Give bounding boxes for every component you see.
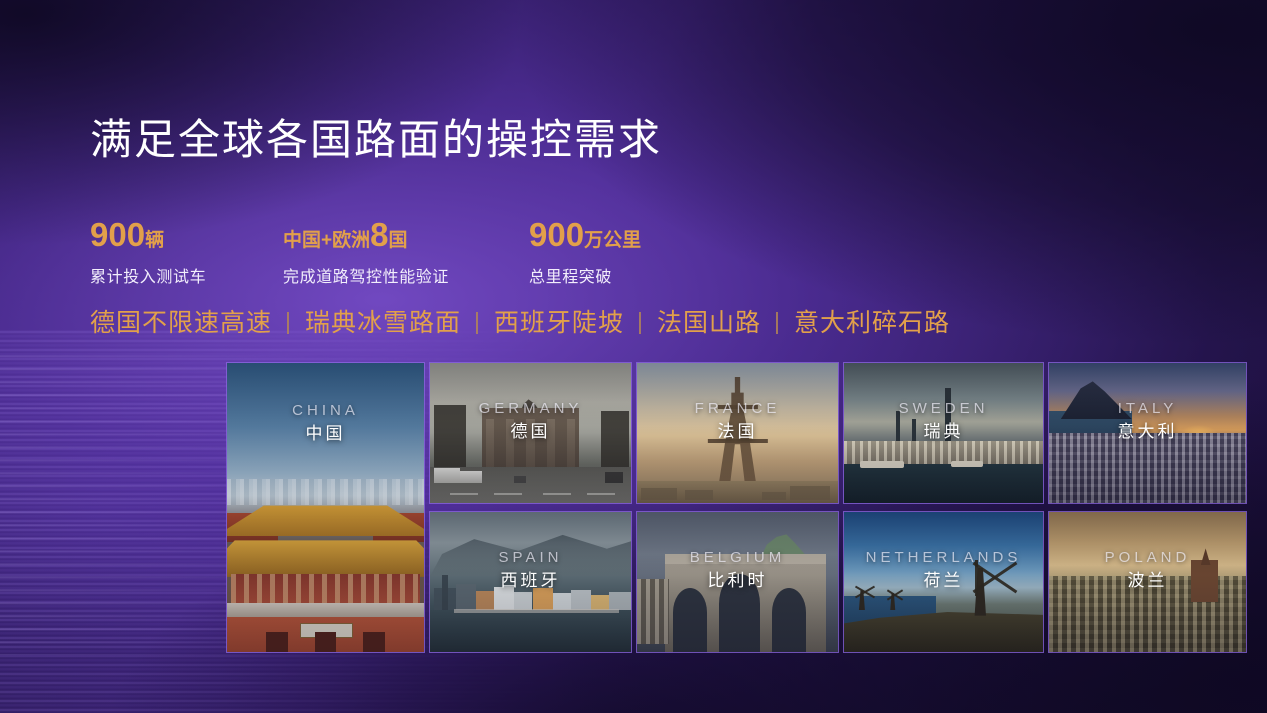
country-name-zh: 西班牙 — [430, 572, 631, 589]
country-name-en: FRANCE — [637, 401, 838, 416]
country-name-en: SPAIN — [430, 550, 631, 565]
country-name-zh: 意大利 — [1049, 423, 1246, 440]
stat-item-test-vehicles: 900辆 累计投入测试车 — [90, 218, 283, 287]
separator: | — [272, 308, 305, 335]
card-labels: GERMANY 德国 — [430, 401, 631, 440]
road-type-item: 德国不限速高速 — [90, 303, 272, 339]
stat-label: 总里程突破 — [529, 263, 641, 287]
gallery-card-spain[interactable]: SPAIN 西班牙 — [429, 511, 632, 653]
card-labels: CHINA 中国 — [227, 403, 424, 442]
card-labels: ITALY 意大利 — [1049, 401, 1246, 440]
road-type-item: 法国山路 — [657, 303, 761, 339]
stat-number: 900 — [90, 216, 145, 253]
gallery-card-netherlands[interactable]: NETHERLANDS 荷兰 — [843, 511, 1044, 653]
country-name-zh: 瑞典 — [844, 423, 1043, 440]
gallery-card-germany[interactable]: GERMANY 德国 — [429, 362, 632, 504]
presentation-slide: 满足全球各国路面的操控需求 900辆 累计投入测试车 中国+欧洲8国 完成道路驾… — [0, 0, 1267, 713]
separator: | — [624, 308, 657, 335]
stat-prefix: 中国+欧洲 — [283, 230, 370, 251]
country-name-en: POLAND — [1049, 550, 1246, 565]
separator: | — [761, 308, 794, 335]
stat-unit: 国 — [388, 230, 407, 251]
road-type-item: 西班牙陡坡 — [494, 303, 624, 339]
stat-number: 900 — [529, 216, 584, 253]
stat-unit: 辆 — [145, 230, 164, 251]
gallery-card-belgium[interactable]: BELGIUM 比利时 — [636, 511, 839, 653]
gallery-card-france[interactable]: FRANCE 法国 — [636, 362, 839, 504]
road-type-item: 瑞典冰雪路面 — [305, 303, 461, 339]
card-labels: SWEDEN 瑞典 — [844, 401, 1043, 440]
separator: | — [461, 308, 494, 335]
stat-label: 完成道路驾控性能验证 — [283, 263, 529, 287]
page-title: 满足全球各国路面的操控需求 — [90, 115, 662, 165]
card-labels: SPAIN 西班牙 — [430, 550, 631, 589]
country-name-en: BELGIUM — [637, 550, 838, 565]
stat-label: 累计投入测试车 — [90, 263, 283, 287]
card-labels: POLAND 波兰 — [1049, 550, 1246, 589]
country-name-zh: 比利时 — [637, 572, 838, 589]
stat-value: 900辆 — [90, 218, 283, 251]
road-types-list: 德国不限速高速 | 瑞典冰雪路面 | 西班牙陡坡 | 法国山路 | 意大利碎石路 — [90, 303, 950, 339]
gallery-card-sweden[interactable]: SWEDEN 瑞典 — [843, 362, 1044, 504]
country-name-zh: 波兰 — [1049, 572, 1246, 589]
country-name-en: ITALY — [1049, 401, 1246, 416]
road-type-item: 意大利碎石路 — [794, 303, 950, 339]
country-name-zh: 荷兰 — [844, 572, 1043, 589]
country-name-en: CHINA — [227, 403, 424, 418]
card-labels: FRANCE 法国 — [637, 401, 838, 440]
card-labels: NETHERLANDS 荷兰 — [844, 550, 1043, 589]
country-name-en: NETHERLANDS — [844, 550, 1043, 565]
country-name-zh: 法国 — [637, 423, 838, 440]
country-name-zh: 中国 — [227, 425, 424, 442]
gallery-card-poland[interactable]: POLAND 波兰 — [1048, 511, 1247, 653]
gallery-card-italy[interactable]: ITALY 意大利 — [1048, 362, 1247, 504]
card-labels: BELGIUM 比利时 — [637, 550, 838, 589]
stat-item-total-mileage: 900万公里 总里程突破 — [529, 218, 641, 287]
country-gallery: CHINA 中国 — [226, 362, 1237, 655]
country-name-en: SWEDEN — [844, 401, 1043, 416]
stat-number: 8 — [370, 216, 388, 253]
gallery-card-china[interactable]: CHINA 中国 — [226, 362, 425, 653]
stat-value: 中国+欧洲8国 — [283, 218, 529, 251]
stat-item-countries: 中国+欧洲8国 完成道路驾控性能验证 — [283, 218, 529, 287]
country-name-en: GERMANY — [430, 401, 631, 416]
stat-unit: 万公里 — [584, 230, 641, 251]
stats-row: 900辆 累计投入测试车 中国+欧洲8国 完成道路驾控性能验证 900万公里 总… — [90, 218, 641, 287]
stat-value: 900万公里 — [529, 218, 641, 251]
country-name-zh: 德国 — [430, 423, 631, 440]
